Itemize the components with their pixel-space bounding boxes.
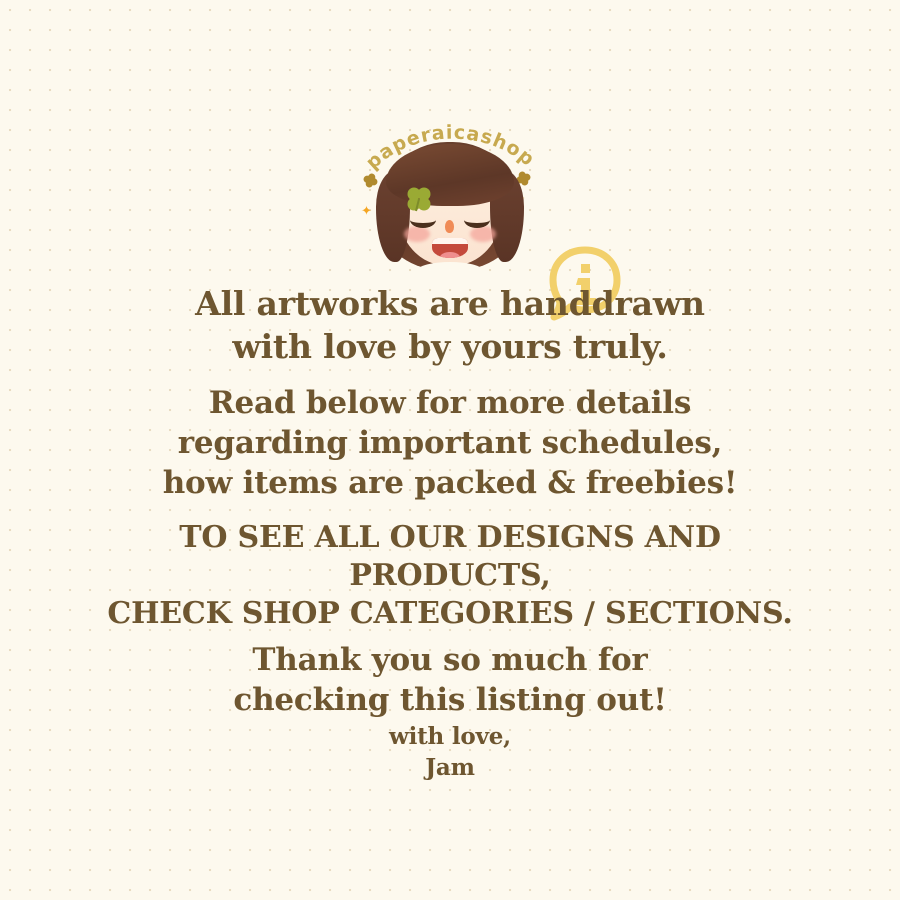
signoff-name: Jam (0, 752, 900, 783)
text-line: CHECK SHOP CATEGORIES / SECTIONS. (0, 595, 900, 633)
signoff: with love, Jam (0, 721, 900, 783)
avatar-cheek-left (404, 226, 430, 242)
shop-header: paperaicashop ✦ ✦ ✦ (0, 112, 900, 282)
text-line: All artworks are handdrawn (0, 282, 900, 325)
avatar (374, 134, 526, 276)
text-line: Read below for more details (0, 383, 900, 423)
text-line: TO SEE ALL OUR DESIGNS AND (0, 519, 900, 557)
shop-logo: paperaicashop ✦ ✦ ✦ (352, 112, 548, 282)
signoff-closing: with love, (0, 721, 900, 752)
headline-handdrawn: All artworks are handdrawn with love by … (0, 282, 900, 368)
headline-designs-products: TO SEE ALL OUR DESIGNS AND PRODUCTS, CHE… (0, 519, 900, 633)
avatar-nose (445, 220, 454, 233)
text-line: Thank you so much for (0, 640, 900, 680)
avatar-cheek-right (470, 226, 496, 242)
text-line: regarding important schedules, (0, 423, 900, 463)
text-line: checking this listing out! (0, 680, 900, 720)
text-line: how items are packed & freebies! (0, 463, 900, 503)
text-line: PRODUCTS, (0, 557, 900, 595)
avatar-eye-right (464, 212, 490, 228)
avatar-mouth (432, 238, 468, 258)
sparkle-icon: ✦ (361, 204, 372, 217)
clover-hairclip-icon (404, 184, 434, 214)
avatar-tongue (440, 252, 460, 258)
headline-read-below: Read below for more details regarding im… (0, 383, 900, 503)
avatar-eye-left (410, 212, 436, 228)
announcement-card: paperaicashop ✦ ✦ ✦ (0, 0, 900, 900)
text-line: with love by yours truly. (0, 325, 900, 368)
headline-thank-you: Thank you so much for checking this list… (0, 640, 900, 720)
avatar-collar (418, 262, 482, 278)
avatar-teeth (432, 238, 468, 244)
